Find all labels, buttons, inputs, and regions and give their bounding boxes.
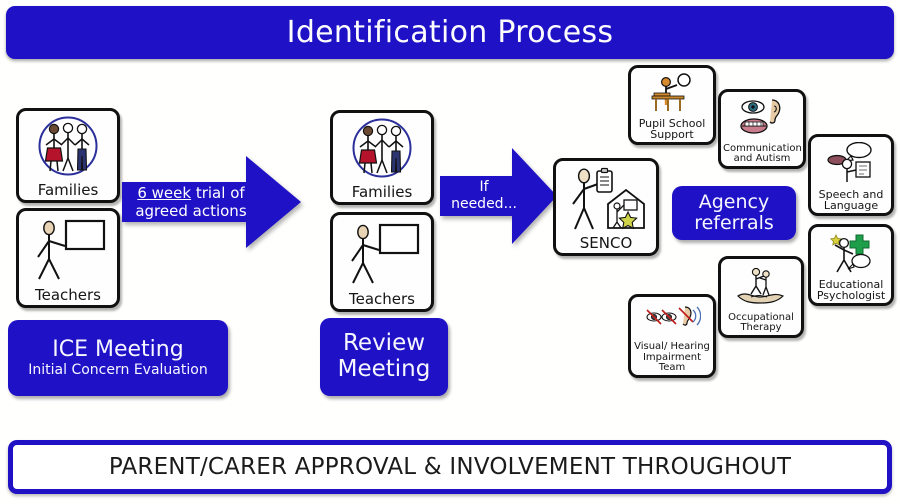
pupil-at-desk-icon — [631, 68, 713, 118]
pill-line-2: Meeting — [338, 357, 431, 383]
card-educational-psychologist: Educational Psychologist — [808, 224, 894, 306]
pill-line-2: referrals — [694, 213, 774, 234]
eye-ear-mouth-icon — [721, 92, 803, 144]
three-people-holding-hands-icon — [19, 111, 117, 183]
card-caption: Occupational Therapy — [721, 313, 801, 335]
card-families-stage2: Families — [330, 110, 434, 205]
pill-agency-referrals: Agency referrals — [672, 186, 796, 240]
card-caption: Speech and Language — [811, 189, 891, 213]
card-pupil-school-support: Pupil School Support — [628, 65, 716, 145]
page-title-banner: Identification Process — [6, 6, 894, 59]
footer-text: PARENT/CARER APPROVAL & INVOLVEMENT THRO… — [109, 454, 791, 480]
speech-bubble-mouth-icon — [811, 137, 891, 189]
teacher-at-whiteboard-icon — [333, 215, 431, 292]
arrow-6-week-trial: 6 week trial of agreed actions — [122, 152, 302, 252]
hands-supporting-person-icon — [721, 259, 801, 313]
card-teachers-stage1: Teachers — [16, 208, 120, 308]
teacher-at-whiteboard-icon — [19, 211, 117, 288]
card-families-stage1: Families — [16, 108, 120, 203]
card-caption: Families — [19, 183, 117, 200]
card-communication-and-autism: Communication and Autism — [718, 89, 806, 169]
person-with-cross-and-bubble-icon — [811, 227, 891, 279]
card-caption: Pupil School Support — [631, 118, 713, 142]
card-caption: Educational Psychologist — [811, 279, 891, 303]
page-title: Identification Process — [287, 15, 614, 50]
pill-line-1: Agency — [699, 192, 769, 213]
arrow-if-needed: If needed... — [440, 144, 558, 248]
card-teachers-stage2: Teachers — [330, 212, 434, 312]
card-caption: SENCO — [556, 236, 656, 253]
person-with-clipboard-and-school-icon — [556, 161, 656, 236]
diagram-canvas: Identification Process — [0, 0, 900, 504]
card-caption: Families — [333, 185, 431, 202]
card-caption: Teachers — [333, 292, 431, 309]
card-caption: Communication and Autism — [721, 144, 803, 166]
pill-line-2: Initial Concern Evaluation — [28, 362, 207, 378]
pill-review-meeting: Review Meeting — [320, 318, 448, 396]
card-occupational-therapy: Occupational Therapy — [718, 256, 804, 338]
footer-banner: PARENT/CARER APPROVAL & INVOLVEMENT THRO… — [8, 440, 892, 494]
pill-line-1: ICE Meeting — [52, 338, 183, 363]
three-people-holding-hands-icon — [333, 113, 431, 185]
card-caption: Visual/ Hearing Impairment Team — [631, 342, 713, 375]
eye-ear-crossed-icon — [631, 297, 713, 342]
card-speech-and-language: Speech and Language — [808, 134, 894, 216]
pill-ice-meeting: ICE Meeting Initial Concern Evaluation — [8, 320, 228, 396]
card-visual-hearing-impairment-team: Visual/ Hearing Impairment Team — [628, 294, 716, 378]
card-caption: Teachers — [19, 288, 117, 305]
card-senco: SENCO — [553, 158, 659, 256]
pill-line-1: Review — [343, 331, 425, 357]
